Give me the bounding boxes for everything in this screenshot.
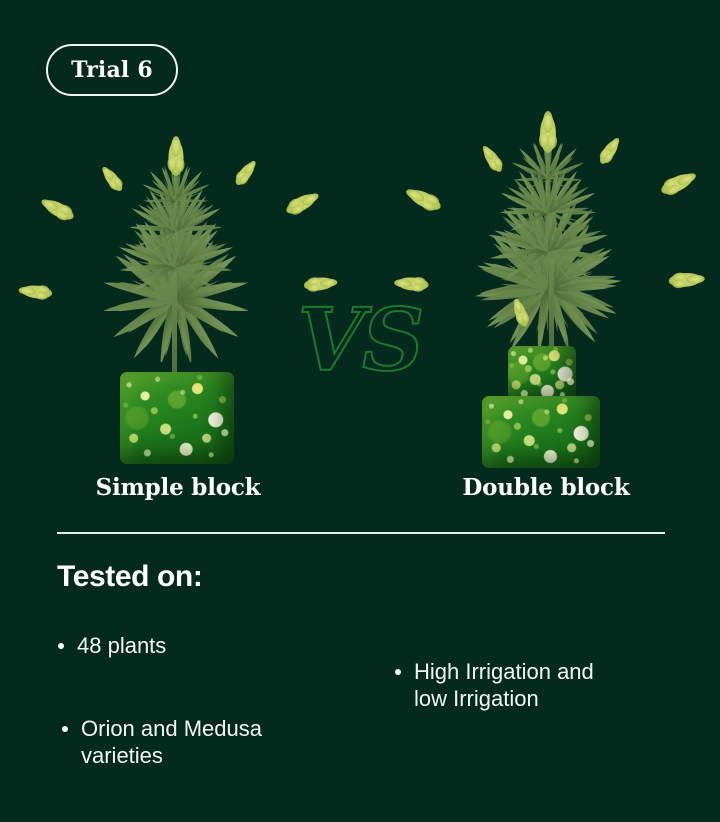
double-block-label: Double block: [366, 474, 720, 501]
vs-label: VS: [298, 298, 423, 384]
simple-block-cube: [120, 372, 234, 464]
plant-stem-right: [549, 258, 554, 356]
simple-block-label: Simple block: [0, 474, 358, 501]
cannabis-plant-icon-right: [373, 48, 720, 348]
block-speckle-overlay: [120, 372, 234, 464]
bullet-dot-icon: [58, 643, 64, 649]
tested-on-heading: Tested on:: [57, 560, 202, 594]
trial-badge-label: Trial 6: [71, 59, 153, 81]
list-item-label: Orion and Medusa varieties: [81, 715, 262, 770]
section-divider: [57, 532, 665, 534]
specimen-right: Double block: [360, 0, 720, 512]
block-speckle-overlay: [482, 396, 600, 468]
list-item-label: High Irrigation and low Irrigation: [414, 658, 594, 713]
bullet-dot-icon: [395, 669, 401, 675]
double-block-lower-cube: [482, 396, 600, 468]
plant-stem-left: [172, 272, 177, 382]
list-item: High Irrigation and low Irrigation: [395, 658, 594, 713]
list-item: 48 plants: [58, 632, 166, 659]
bullet-dot-icon: [62, 726, 68, 732]
block-speckle-overlay: [508, 346, 576, 400]
list-item: Orion and Medusa varieties: [62, 715, 262, 770]
double-block-upper-cube: [508, 346, 576, 400]
trial-badge: Trial 6: [46, 44, 178, 96]
infographic-canvas: Trial 6: [0, 0, 720, 822]
list-item-label: 48 plants: [77, 632, 166, 659]
